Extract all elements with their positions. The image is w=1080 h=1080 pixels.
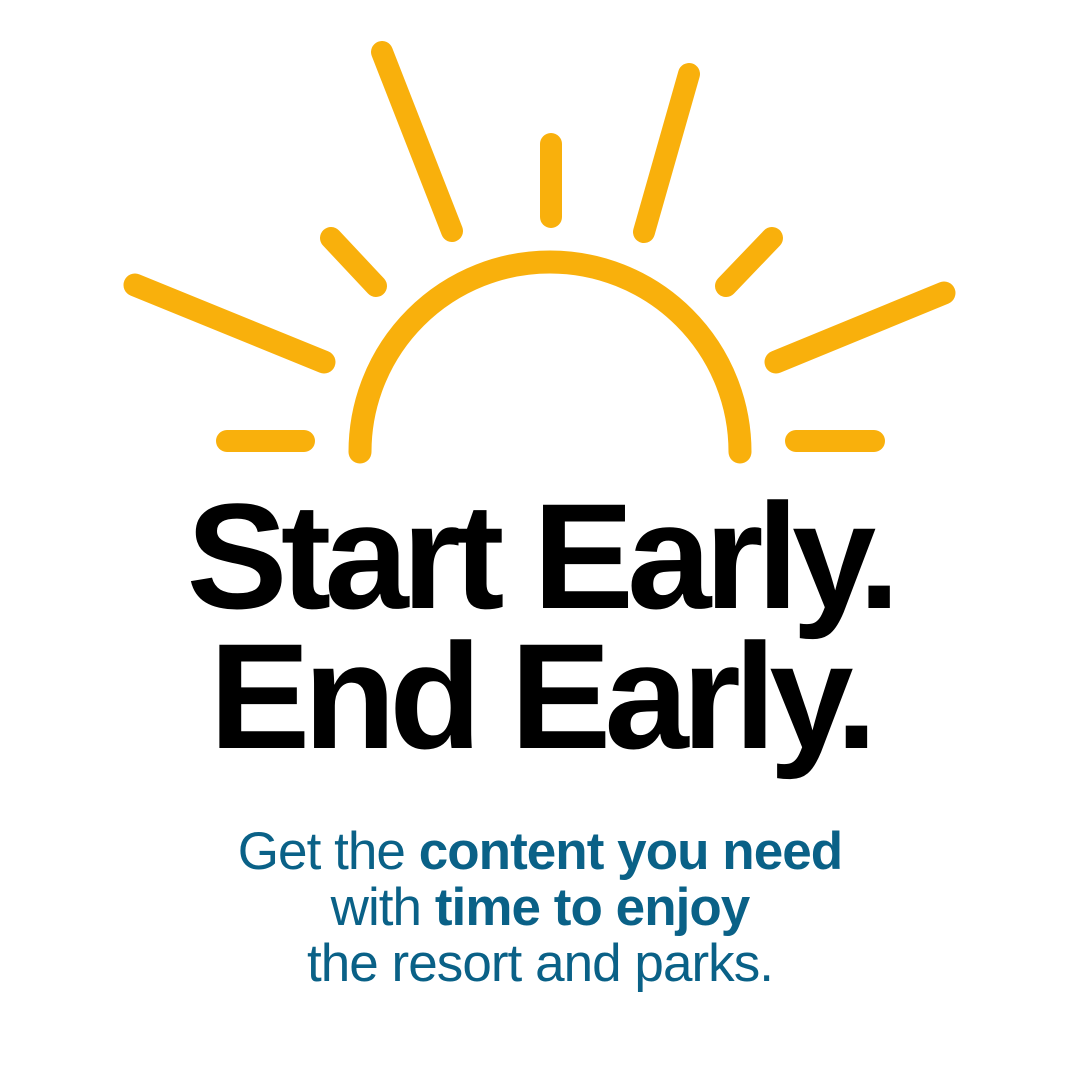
poster-canvas: Start Early. End Early. Get the content … (0, 0, 1080, 1080)
sun-ray-shallow-lower-right (776, 293, 944, 362)
sunrise-icon-svg (0, 0, 1080, 500)
subtitle-line-3-regular: the resort and parks. (307, 934, 773, 993)
subtitle-line-1: Get the content you need (0, 824, 1080, 880)
subtitle-line-1-bold: content you need (419, 822, 843, 881)
subtitle-line-2: with time to enjoy (0, 880, 1080, 936)
sun-ray-shallow-lower-left (135, 285, 324, 362)
headline-line-2: End Early. (0, 626, 1080, 766)
sun-ray-diagonal-upper-right (644, 74, 689, 232)
sunrise-icon (0, 0, 1080, 500)
headline-line-1: Start Early. (0, 486, 1080, 626)
sun-ray-diagonal-mid-right (726, 238, 772, 286)
sun-arc (360, 262, 740, 452)
subtitle-line-1-regular: Get the (238, 822, 419, 881)
sun-ray-diagonal-mid-left (331, 238, 376, 286)
headline: Start Early. End Early. (0, 486, 1080, 767)
subtitle-line-3: the resort and parks. (0, 936, 1080, 992)
subtitle: Get the content you need with time to en… (0, 824, 1080, 993)
subtitle-line-2-bold: time to enjoy (435, 878, 749, 937)
sun-ray-diagonal-upper-left (382, 52, 452, 231)
subtitle-line-2-regular: with (331, 878, 435, 937)
